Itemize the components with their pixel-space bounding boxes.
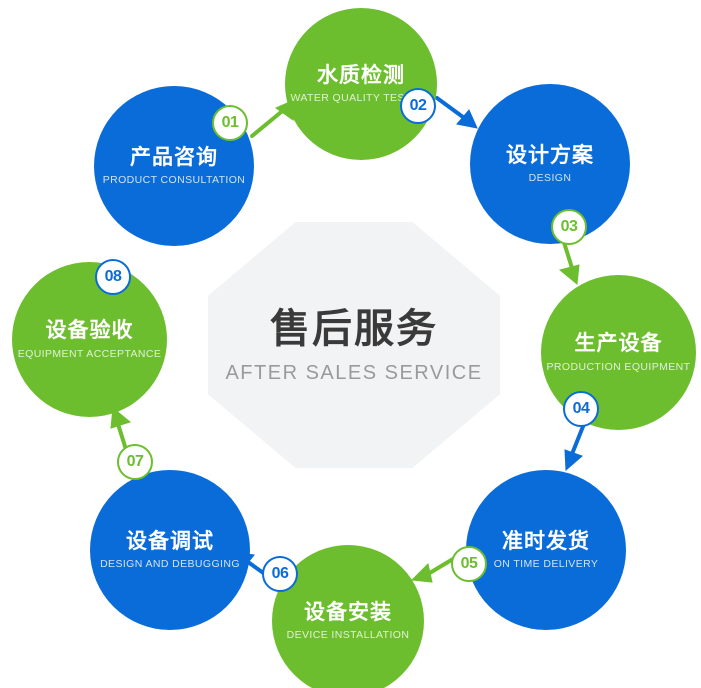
step-title-05: 准时发货 (502, 530, 590, 553)
step-title-08: 设备验收 (46, 319, 134, 342)
step-node-03[interactable]: 设计方案 DESIGN (470, 84, 630, 244)
step-badge-07[interactable]: 07 (117, 444, 153, 480)
step-number-03: 03 (561, 218, 578, 236)
step-node-02[interactable]: 水质检测 WATER QUALITY TESTING (285, 8, 437, 160)
step-badge-03[interactable]: 03 (551, 209, 587, 245)
step-badge-01[interactable]: 01 (212, 105, 248, 141)
step-badge-08[interactable]: 08 (95, 259, 131, 295)
step-badge-05[interactable]: 05 (451, 546, 487, 582)
arrow-04-to-05 (550, 420, 598, 476)
process-flow-diagram: 售后服务 AFTER SALES SERVICE (0, 0, 701, 688)
step-subtitle-06: DEVICE INSTALLATION (287, 629, 410, 641)
step-subtitle-03: DESIGN (529, 172, 572, 184)
step-number-07: 07 (127, 453, 144, 471)
step-subtitle-08: EQUIPMENT ACCEPTANCE (18, 348, 162, 360)
step-badge-02[interactable]: 02 (400, 88, 436, 124)
center-label-group: 售后服务 AFTER SALES SERVICE (208, 222, 500, 468)
step-subtitle-07: DESIGN AND DEBUGGING (100, 558, 240, 570)
step-title-06: 设备安装 (304, 601, 392, 624)
step-node-05[interactable]: 准时发货 ON TIME DELIVERY (466, 470, 626, 630)
step-number-02: 02 (410, 97, 427, 115)
step-node-08[interactable]: 设备验收 EQUIPMENT ACCEPTANCE (12, 262, 167, 417)
step-subtitle-04: PRODUCTION EQUIPMENT (547, 361, 691, 373)
center-subtitle: AFTER SALES SERVICE (225, 362, 482, 385)
step-badge-04[interactable]: 04 (563, 391, 599, 427)
step-number-04: 04 (573, 400, 590, 418)
arrow-02-to-03 (433, 90, 485, 134)
step-number-01: 01 (222, 114, 239, 132)
step-number-08: 08 (105, 268, 122, 286)
step-title-02: 水质检测 (317, 64, 405, 87)
step-title-01: 产品咨询 (130, 146, 218, 169)
step-subtitle-01: PRODUCT CONSULTATION (103, 174, 246, 186)
center-title: 售后服务 (270, 306, 438, 352)
step-title-03: 设计方案 (506, 144, 594, 167)
step-number-06: 06 (272, 565, 289, 583)
step-title-07: 设备调试 (126, 530, 214, 553)
step-badge-06[interactable]: 06 (262, 556, 298, 592)
step-number-05: 05 (461, 555, 478, 573)
step-subtitle-05: ON TIME DELIVERY (494, 558, 599, 570)
step-title-04: 生产设备 (575, 332, 663, 355)
step-node-07[interactable]: 设备调试 DESIGN AND DEBUGGING (90, 470, 250, 630)
